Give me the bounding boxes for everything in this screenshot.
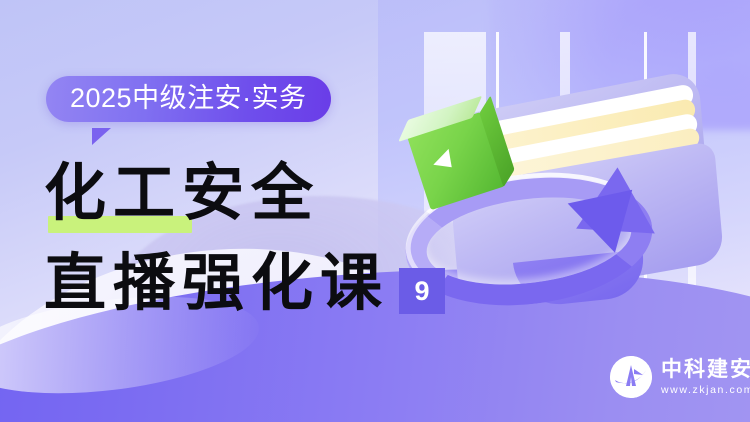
brand-url: www.zkjan.com: [661, 385, 750, 396]
brand-logo: 中科建安 www.zkjan.com: [610, 356, 750, 398]
course-promo-banner: 2025中级注安·实务 化工安全 直播强化课 9 中科建安 www.zkjan.…: [0, 0, 750, 422]
category-badge-wrapper: 2025中级注安·实务: [46, 76, 331, 122]
category-badge-tail: [92, 128, 111, 145]
circular-person-swoosh-logo-icon: [610, 356, 652, 398]
brand-name: 中科建安: [661, 359, 750, 380]
page-title-line-1: 化工安全: [44, 163, 320, 225]
illustration-group: [395, 60, 740, 360]
page-title-line-2: 直播强化课: [44, 253, 389, 315]
episode-number-badge: 9: [399, 268, 445, 314]
category-badge: 2025中级注安·实务: [46, 76, 331, 122]
brand-logo-text: 中科建安 www.zkjan.com: [661, 359, 750, 396]
